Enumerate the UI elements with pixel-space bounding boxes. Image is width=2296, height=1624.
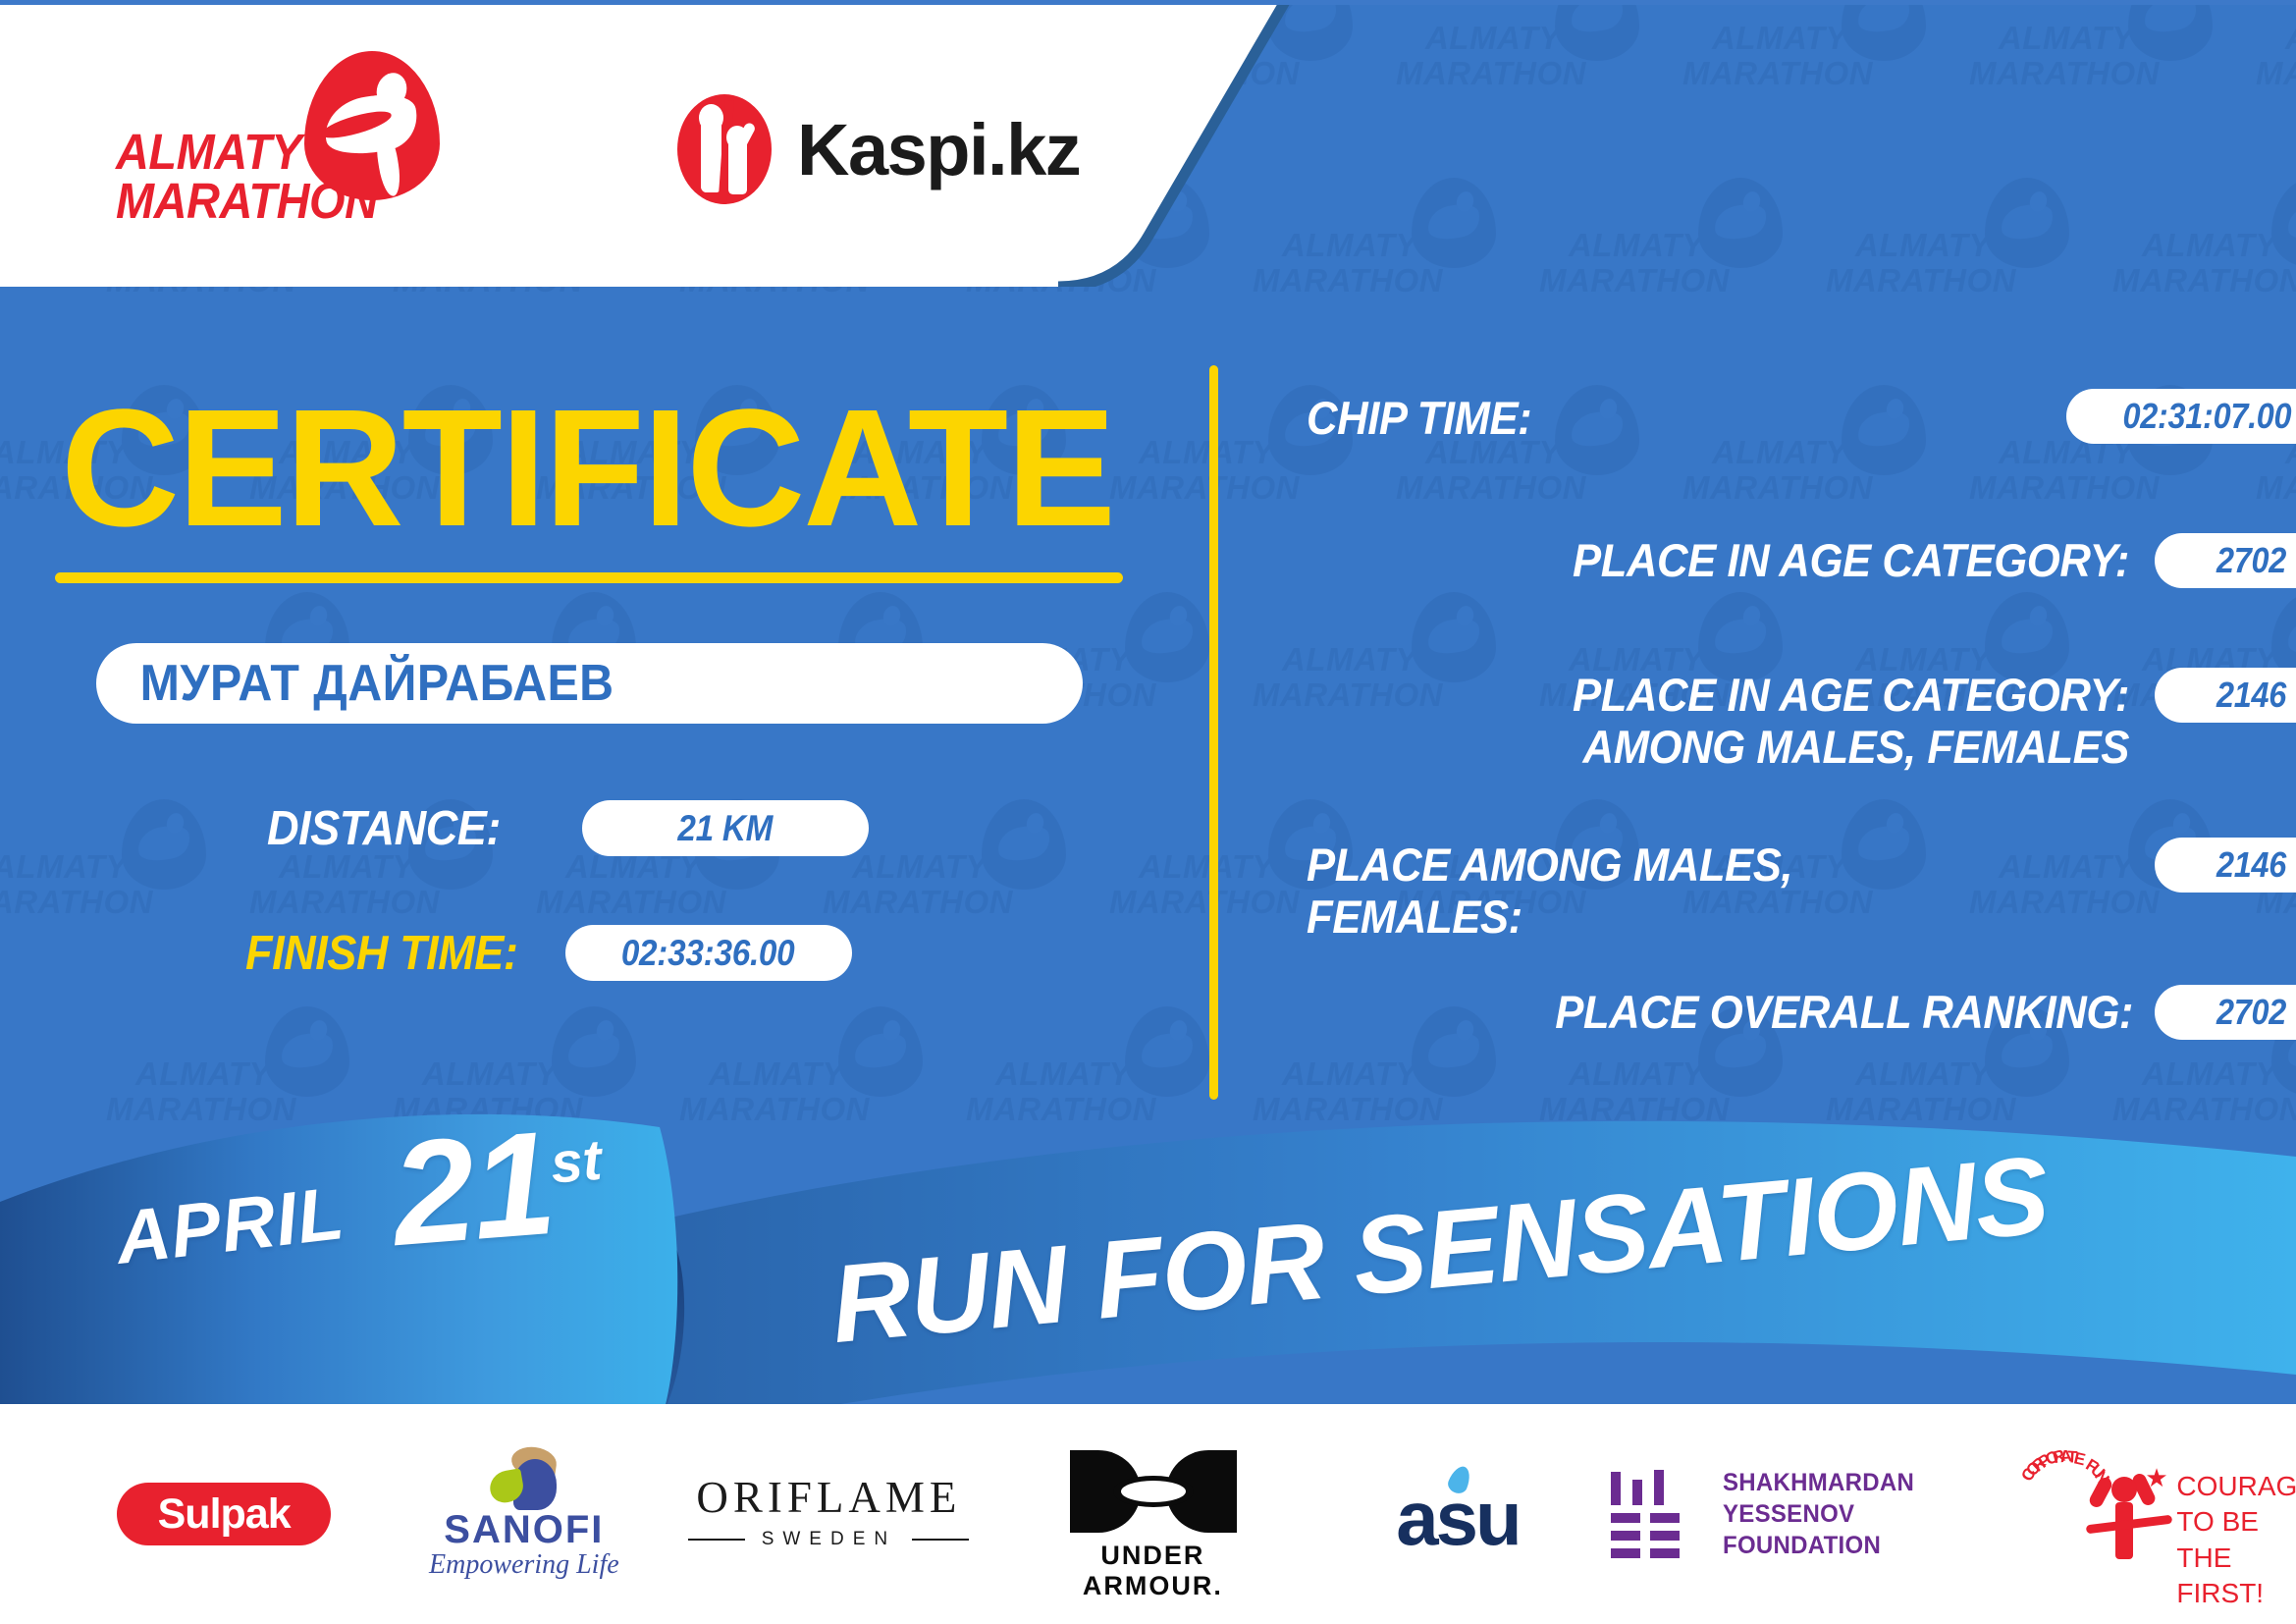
place-age-category-value-pill: 2702 xyxy=(2155,533,2296,588)
finish-time-value: 02:33:36.00 xyxy=(621,933,795,974)
place-age-category-row: PLACE IN AGE CATEGORY: 2702 xyxy=(1307,535,2296,588)
sponsor-logo-under-armour: UNDER ARMOUR. xyxy=(990,1440,1314,1588)
finish-time-label: FINISH TIME: xyxy=(245,926,517,981)
yessenov-label-line1: SHAKHMARDAN YESSENOV xyxy=(1723,1467,1991,1530)
place-among-gender-label: PLACE AMONG MALES, FEMALES: xyxy=(1307,839,2071,943)
place-among-gender-value-pill: 2146 xyxy=(2155,838,2296,893)
distance-label: DISTANCE: xyxy=(267,801,501,856)
sanofi-tagline: Empowering Life xyxy=(411,1549,637,1581)
under-armour-icon xyxy=(1070,1450,1237,1533)
courage-runner-icon: ★ xyxy=(2090,1463,2164,1565)
courage-label-line2: TO BE xyxy=(2176,1504,2294,1540)
finish-time-row: FINISH TIME: 02:33:36.00 xyxy=(245,925,852,981)
chip-time-row: CHIP TIME: 02:31:07.00 xyxy=(1307,393,2296,445)
sponsor-logo-sanofi: SANOFI Empowering Life xyxy=(381,1440,667,1588)
sponsor-logo-sulpak: Sulpak xyxy=(67,1440,381,1588)
header-panel: ALMATY MARATHON Kaspi.kz xyxy=(0,0,1335,287)
almaty-marathon-logo-line1: ALMATY xyxy=(116,128,324,177)
place-overall-value: 2702 xyxy=(2216,992,2285,1033)
sanofi-label: SANOFI xyxy=(411,1508,637,1552)
participant-name-field: МУРАТ ДАЙРАБАЕВ xyxy=(96,643,1083,724)
almaty-marathon-logo-line2: MARATHON xyxy=(116,177,324,226)
oriflame-rule-right xyxy=(912,1539,969,1541)
place-age-category-gender-label: PLACE IN AGE CATEGORY: AMONG MALES, FEMA… xyxy=(1364,670,2129,773)
participant-name-value: МУРАТ ДАЙРАБАЕВ xyxy=(96,654,614,713)
place-overall-label: PLACE OVERALL RANKING: xyxy=(1364,987,2133,1039)
chip-time-value: 02:31:07.00 xyxy=(2122,396,2291,437)
almaty-marathon-logo-text: ALMATY MARATHON xyxy=(116,128,324,226)
place-overall-row: PLACE OVERALL RANKING: 2702 xyxy=(1307,987,2296,1040)
kaspi-logo: Kaspi.kz xyxy=(677,94,1080,204)
courage-label-line3: THE FIRST! xyxy=(2176,1541,2294,1612)
place-age-category-gender-value-pill: 2146 xyxy=(2155,668,2296,723)
almaty-marathon-logo: ALMATY MARATHON xyxy=(116,51,440,236)
chip-time-label: CHIP TIME: xyxy=(1307,393,1978,445)
place-age-category-gender-row: PLACE IN AGE CATEGORY: AMONG MALES, FEMA… xyxy=(1307,670,2296,773)
ribbon-day-number: 21 xyxy=(387,1100,560,1276)
title-underline xyxy=(55,572,1123,583)
ribbon-day: 21st xyxy=(387,1094,610,1279)
results-column: CHIP TIME: 02:31:07.00 PLACE IN AGE CATE… xyxy=(1218,0,2296,1129)
sponsor-bar: Sulpak SANOFI Empowering Life ORIFLAME S… xyxy=(0,1404,2296,1624)
sulpak-badge: Sulpak xyxy=(117,1483,331,1545)
place-age-category-gender-value: 2146 xyxy=(2216,675,2285,716)
certificate-page: ALMATYMARATHONALMATYMARATHONALMATYMARATH… xyxy=(0,0,2296,1624)
column-divider xyxy=(1209,365,1218,1100)
distance-row: DISTANCE: 21 KM xyxy=(267,800,869,856)
yessenov-glyph-icon xyxy=(1609,1470,1693,1558)
ribbon-day-suffix: st xyxy=(549,1128,605,1196)
distance-value-pill: 21 KM xyxy=(582,800,869,856)
courage-label-line1: COURAGE xyxy=(2176,1469,2294,1504)
top-accent-strip xyxy=(0,0,2296,5)
place-age-category-value: 2702 xyxy=(2216,540,2285,581)
sanofi-bird-icon xyxy=(484,1447,566,1508)
yessenov-label-line2: FOUNDATION xyxy=(1723,1530,1991,1561)
oriflame-label: ORIFLAME xyxy=(686,1472,971,1523)
place-overall-value-pill: 2702 xyxy=(2155,985,2296,1040)
under-armour-label: UNDER ARMOUR. xyxy=(1035,1541,1270,1601)
page-title: CERTIFICATE xyxy=(61,385,1114,552)
sponsor-logo-asu: asu xyxy=(1314,1440,1600,1588)
kaspi-logo-text: Kaspi.kz xyxy=(797,108,1080,191)
sponsor-logo-oriflame: ORIFLAME SWEDEN xyxy=(667,1440,990,1588)
finish-time-value-pill: 02:33:36.00 xyxy=(565,925,852,981)
place-among-gender-row: PLACE AMONG MALES, FEMALES: 2146 xyxy=(1307,839,2296,943)
place-age-category-label: PLACE IN AGE CATEGORY: xyxy=(1364,535,2129,587)
running-man-drop-icon xyxy=(304,51,440,200)
kaspi-people-icon xyxy=(677,94,772,204)
sponsor-logo-courage-fund: CORPORATE FUND ★ COURAGE TO BE THE FIRST… xyxy=(2010,1440,2296,1588)
place-among-gender-value: 2146 xyxy=(2216,844,2285,886)
sponsor-logo-yessenov-foundation: SHAKHMARDAN YESSENOV FOUNDATION xyxy=(1601,1440,2010,1588)
chip-time-value-pill: 02:31:07.00 xyxy=(2066,389,2296,444)
distance-value: 21 KM xyxy=(677,808,773,849)
sulpak-label: Sulpak xyxy=(158,1490,291,1539)
